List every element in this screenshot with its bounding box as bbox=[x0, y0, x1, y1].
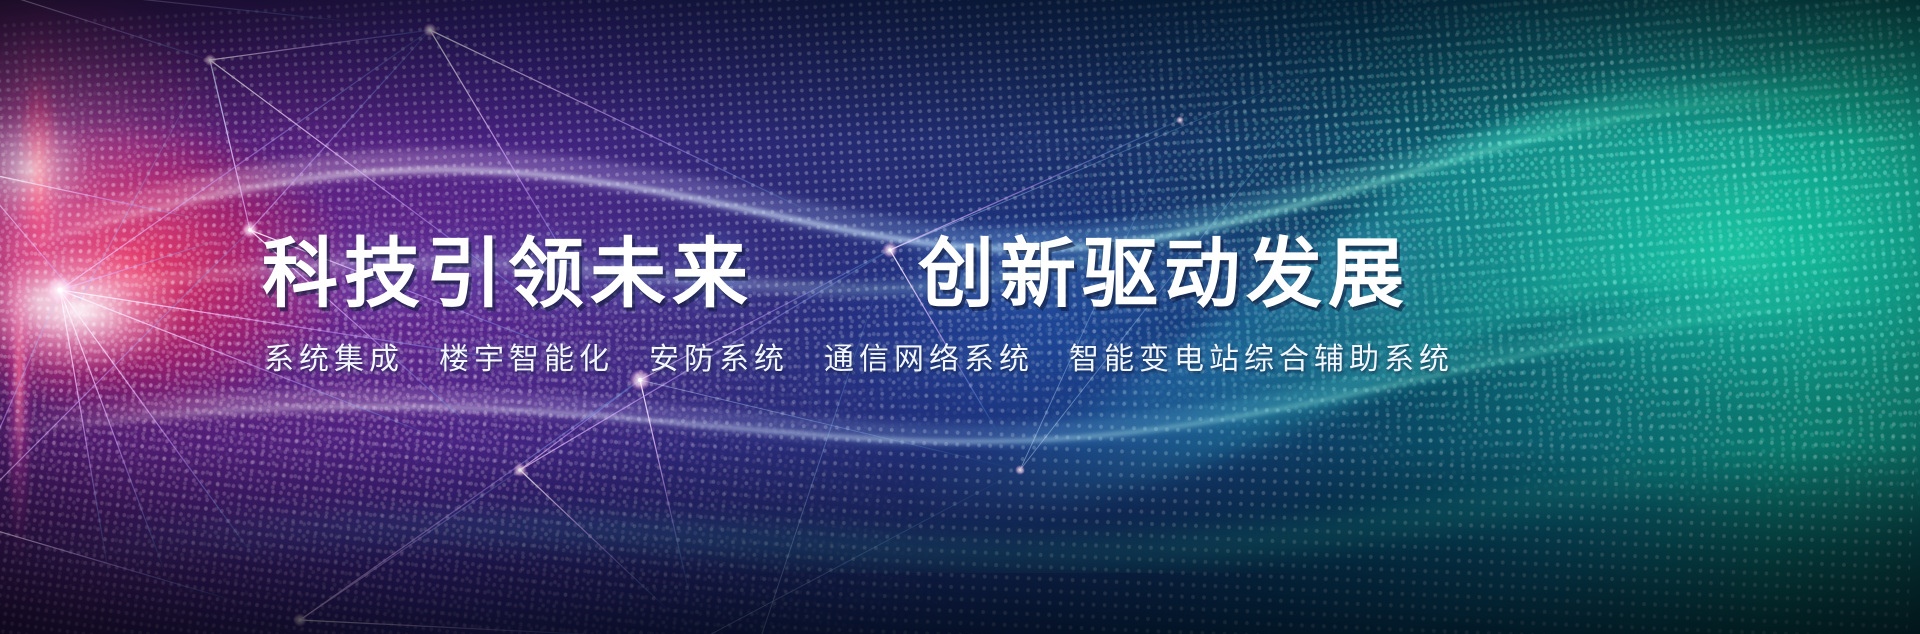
hero-banner: 科技引领未来 创新驱动发展 系统集成 楼宇智能化 安防系统 通信网络系统 智能变… bbox=[0, 0, 1920, 634]
page-title: 科技引领未来 创新驱动发展 bbox=[262, 237, 1410, 313]
service-tagline: 系统集成 楼宇智能化 安防系统 通信网络系统 智能变电站综合辅助系统 bbox=[264, 345, 1454, 375]
banner-content: 科技引领未来 创新驱动发展 系统集成 楼宇智能化 安防系统 通信网络系统 智能变… bbox=[0, 0, 1920, 634]
